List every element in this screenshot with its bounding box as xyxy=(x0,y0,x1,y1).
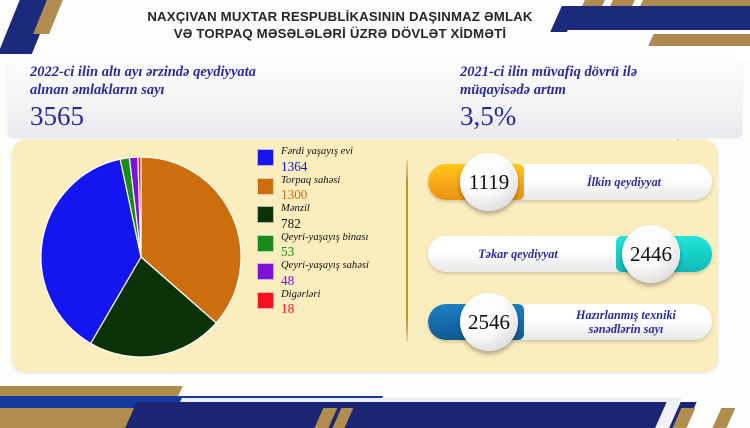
legend-label: Mənzil xyxy=(281,203,310,216)
footer-band-gold-6 xyxy=(711,408,736,428)
legend-label: Torpaq sahəsi xyxy=(281,175,340,188)
metric-knob: 2546 xyxy=(460,293,518,351)
legend-label: Qeyri-yaşayış binası xyxy=(281,232,368,245)
stat-right-caption: 2021-ci ilin müvafiq dövrü ilə müqayisəd… xyxy=(460,63,750,99)
metric-label: Hazırlanmış texniki sənədlərin sayı xyxy=(540,304,712,340)
legend-swatch xyxy=(257,263,274,280)
metric-value: 1119 xyxy=(469,172,509,193)
legend-item: Mənzil 782 xyxy=(257,203,407,231)
chart-panel: Fərdi yaşayış evi 1364 Torpaq sahəsi 130… xyxy=(12,140,718,372)
legend-label: Qeyri-yaşayış sahəsi xyxy=(281,260,369,273)
legend-item: Torpaq sahəsi 1300 xyxy=(257,175,407,203)
metric-tekar-qeydiyyat: Təkar qeydiyyat 2446 xyxy=(428,230,712,276)
metric-hazirlanmis-texniki-senedler: Hazırlanmış texniki sənədlərin sayı 2546 xyxy=(428,298,712,344)
stat-registered-properties: 2022-ci ilin altı ayı ərzində qeydiyyata… xyxy=(30,63,360,131)
metric-label: Təkar qeydiyyat xyxy=(434,236,602,272)
legend-item: Fərdi yaşayış evi 1364 xyxy=(257,146,407,174)
legend-item: Digərləri 18 xyxy=(257,289,407,317)
legend-swatch xyxy=(257,178,274,195)
stat-left-caption-line-1: 2022-ci ilin altı ayı ərzində qeydiyyata xyxy=(30,63,360,81)
stat-growth: 2021-ci ilin müvafiq dövrü ilə müqayisəd… xyxy=(460,63,750,131)
legend-value: 53 xyxy=(281,244,368,259)
legend-label: Digərləri xyxy=(281,289,320,302)
pie-chart xyxy=(38,154,244,360)
metric-ilkin-qeydiyyat: İlkin qeydiyyat 1119 xyxy=(428,158,712,204)
stat-left-caption: 2022-ci ilin altı ayı ərzində qeydiyyata… xyxy=(30,63,360,99)
stat-right-caption-line-1: 2021-ci ilin müvafiq dövrü ilə xyxy=(460,63,750,81)
legend-value: 1300 xyxy=(281,187,340,202)
metric-knob: 2446 xyxy=(622,225,680,283)
metric-value: 2546 xyxy=(468,312,510,333)
page-title-line-2: VƏ TORPAQ MƏSƏLƏLƏRİ ÜZRƏ DÖVLƏT XİDMƏTİ xyxy=(60,25,620,42)
footer-band-navy-2 xyxy=(123,402,696,428)
stat-right-value: 3,5% xyxy=(460,101,750,131)
stat-right-caption-line-2: müqayisədə artım xyxy=(460,81,750,99)
chart-legend: Fərdi yaşayış evi 1364 Torpaq sahəsi 130… xyxy=(257,146,407,317)
summary-card: 2022-ci ilin altı ayı ərzində qeydiyyata… xyxy=(8,55,742,137)
metric-label-line-2: sənədlərin sayı xyxy=(576,322,676,336)
infographic-slide: NAXÇIVAN MUXTAR RESPUBLİKASININ DAŞINMAZ… xyxy=(0,0,750,428)
legend-item: Qeyri-yaşayış binası 53 xyxy=(257,232,407,260)
metric-label: İlkin qeydiyyat xyxy=(540,164,708,200)
metric-label-line-1: Hazırlanmış texniki xyxy=(576,308,676,322)
metric-knob: 1119 xyxy=(460,153,518,211)
legend-swatch xyxy=(257,235,274,252)
metric-value: 2446 xyxy=(630,244,672,265)
legend-value: 48 xyxy=(281,273,369,288)
legend-value: 782 xyxy=(281,216,310,231)
footer-decoration xyxy=(0,372,750,428)
legend-value: 1364 xyxy=(281,159,353,174)
stat-left-caption-line-2: alınan əmlakların sayı xyxy=(30,81,360,99)
metrics-group: İlkin qeydiyyat 1119 Təkar qeydiyyat 244… xyxy=(428,146,712,366)
legend-swatch xyxy=(257,206,274,223)
legend-item: Qeyri-yaşayış sahəsi 48 xyxy=(257,260,407,288)
page-title: NAXÇIVAN MUXTAR RESPUBLİKASININ DAŞINMAZ… xyxy=(60,8,620,42)
legend-label: Fərdi yaşayış evi xyxy=(281,146,353,159)
legend-value: 18 xyxy=(281,301,320,316)
legend-swatch xyxy=(257,292,274,309)
pie-chart-svg xyxy=(38,154,244,360)
panel-divider xyxy=(406,160,408,342)
stat-left-value: 3565 xyxy=(30,101,360,131)
legend-swatch xyxy=(257,149,274,166)
page-title-line-1: NAXÇIVAN MUXTAR RESPUBLİKASININ DAŞINMAZ… xyxy=(60,8,620,25)
